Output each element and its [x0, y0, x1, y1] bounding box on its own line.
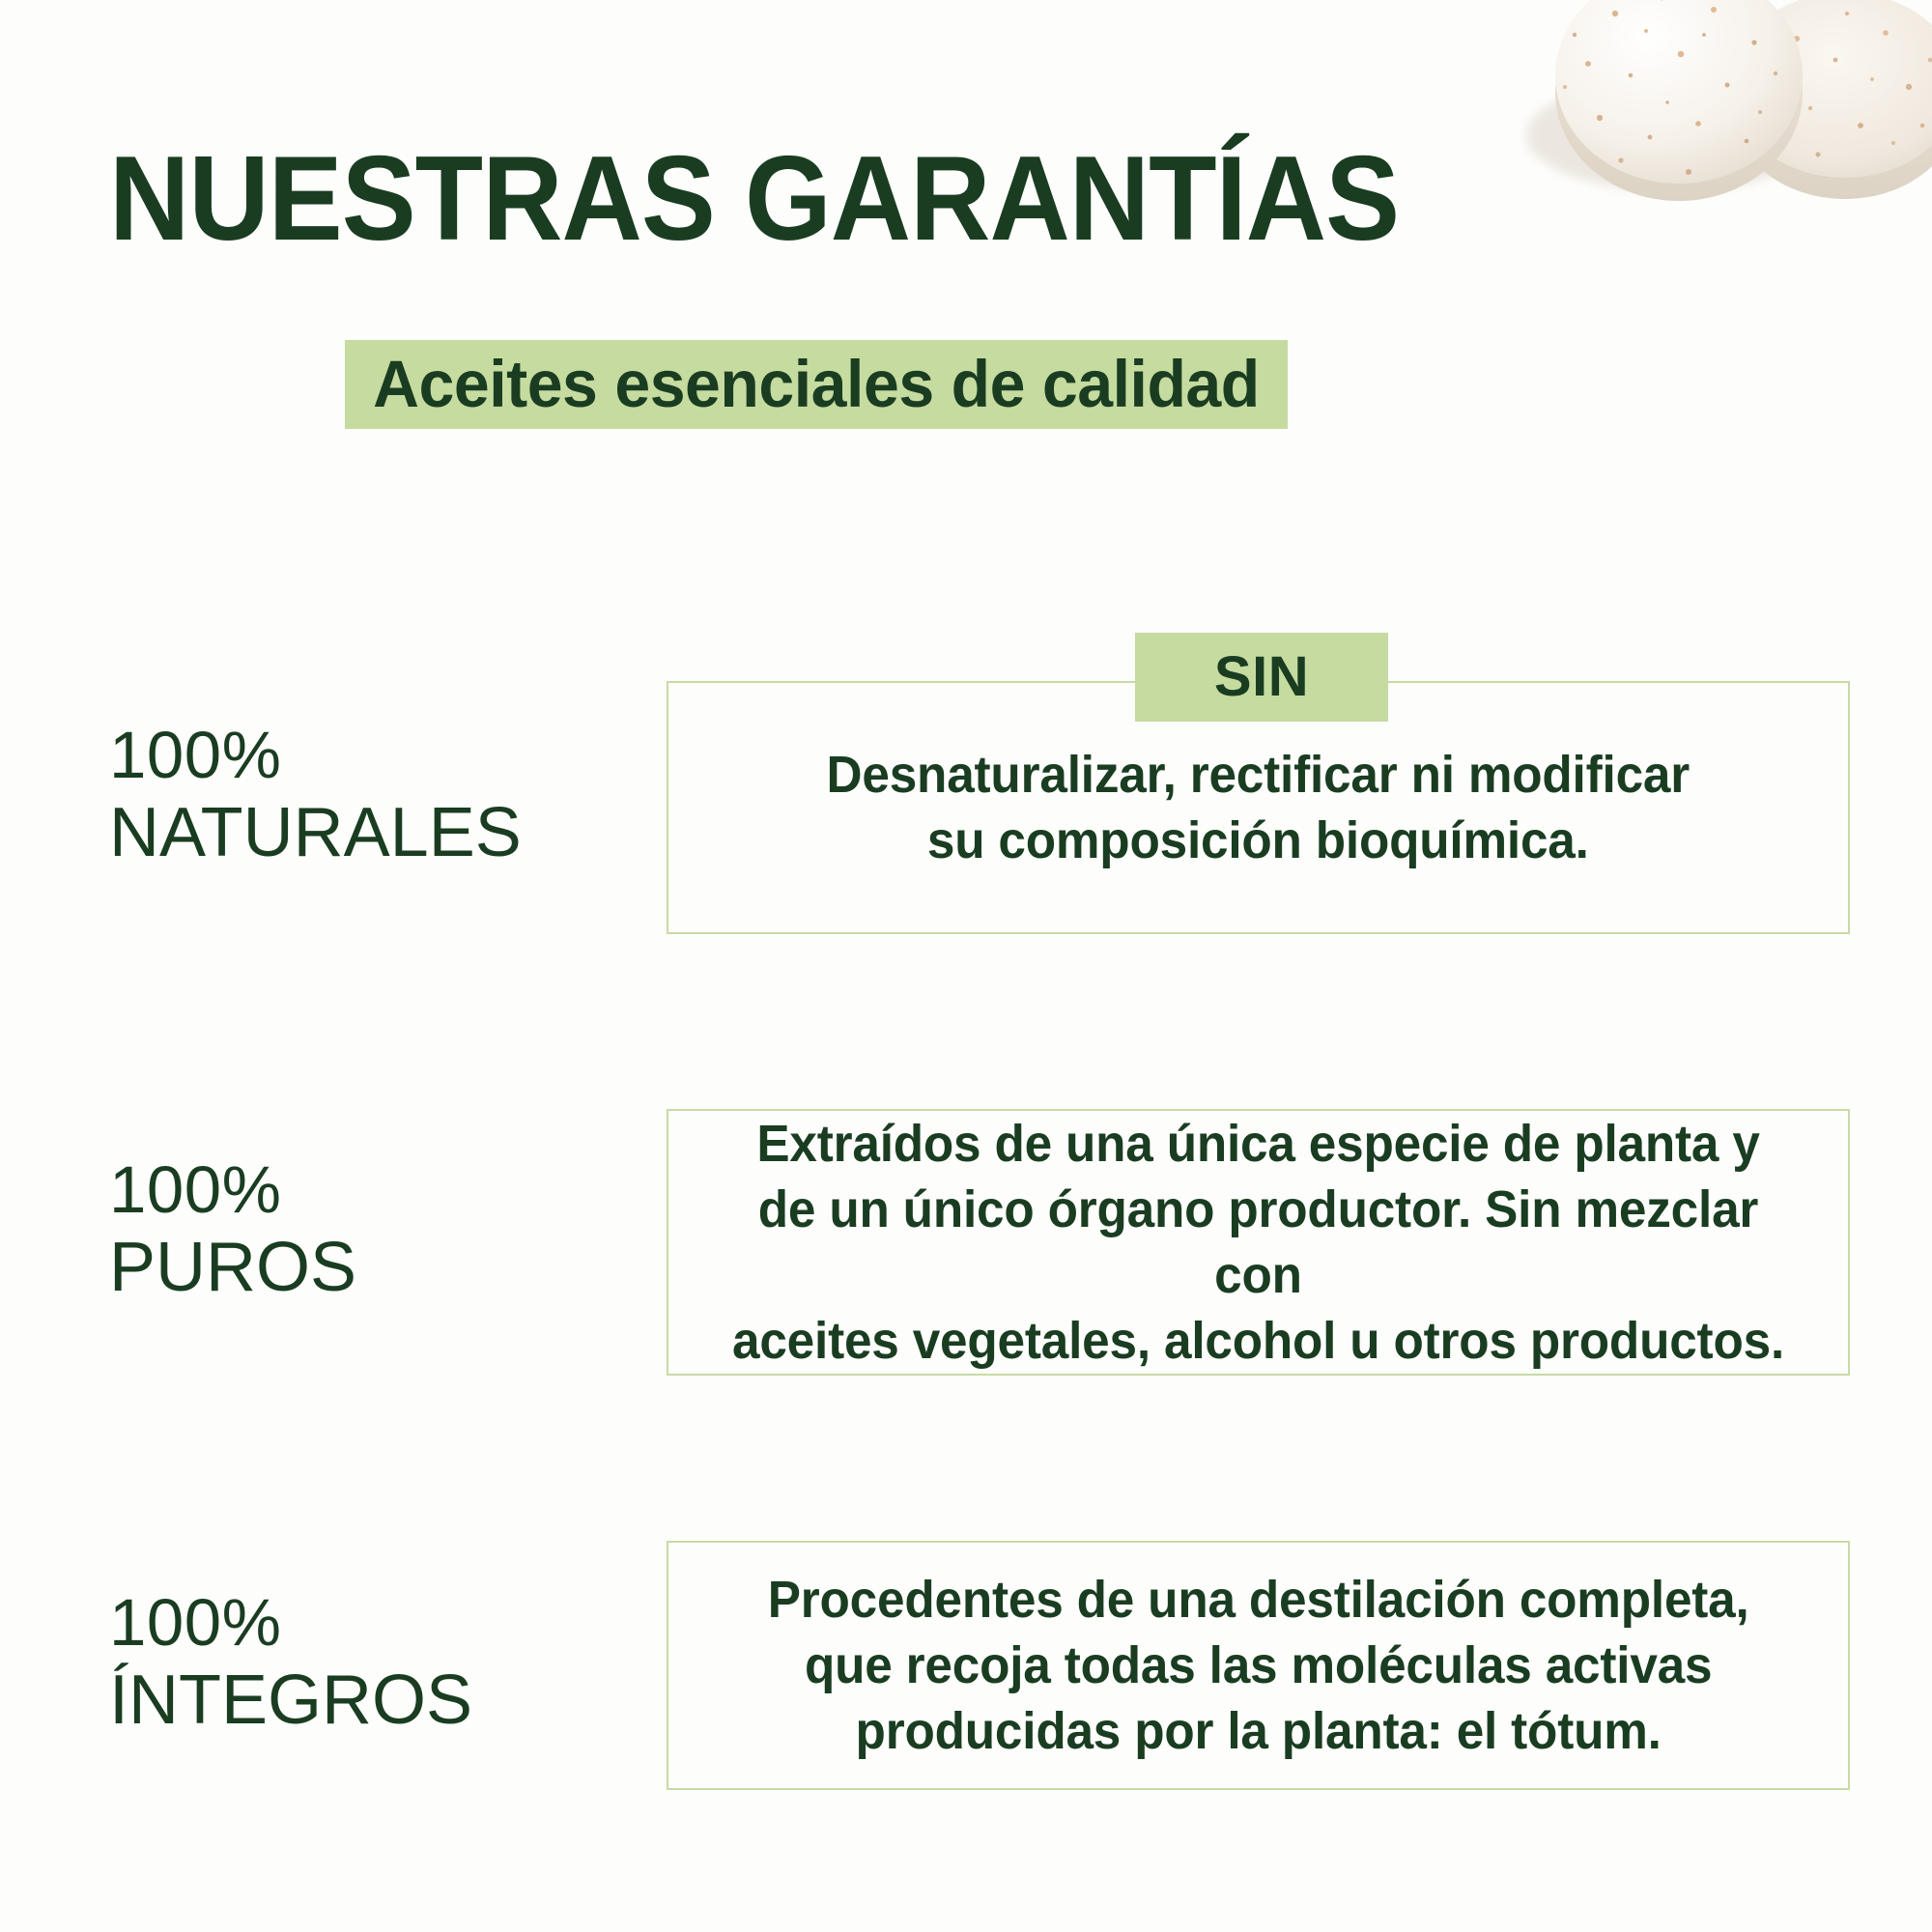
guarantee-description-1-line-2: su composición bioquímica.	[927, 811, 1589, 869]
guarantee-description-1: Desnaturalizar, rectificar ni modificar …	[801, 742, 1716, 873]
guarantee-percent-1: 100%	[109, 717, 522, 794]
guarantee-box-3: Procedentes de una destilación completa,…	[667, 1541, 1850, 1790]
guarantee-name-2: PUROS	[109, 1229, 356, 1306]
guarantee-percent-3: 100%	[109, 1584, 472, 1662]
guarantee-percent-2: 100%	[109, 1151, 356, 1229]
guarantee-name-3: ÍNTEGROS	[109, 1662, 472, 1739]
guarantee-description-2: Extraídos de una única especie de planta…	[698, 1111, 1819, 1374]
page-subtitle: Aceites esenciales de calidad	[373, 350, 1260, 419]
guarantee-description-2-line-3: aceites vegetales, alcohol u otros produ…	[732, 1312, 1784, 1370]
guarantee-description-2-line-1: Extraídos de una única especie de planta…	[756, 1115, 1759, 1173]
guarantee-description-3-line-3: producidas por la planta: el tótum.	[855, 1702, 1661, 1760]
tablets-icon	[1507, 0, 1932, 241]
guarantee-description-3-line-2: que recoja todas las moléculas activas	[805, 1636, 1712, 1694]
sin-badge: SIN	[1135, 633, 1388, 722]
guarantee-box-2: Extraídos de una única especie de planta…	[667, 1109, 1850, 1376]
infographic-page: NUESTRAS GARANTÍAS Aceites esenciales de…	[0, 0, 1932, 1932]
guarantee-label-3: 100% ÍNTEGROS	[109, 1584, 472, 1739]
guarantee-description-2-line-2: de un único órgano productor. Sin mezcla…	[758, 1180, 1758, 1304]
guarantee-label-2: 100% PUROS	[109, 1151, 356, 1306]
tablets-decoration-image	[1507, 0, 1932, 241]
guarantee-label-1: 100% NATURALES	[109, 717, 522, 871]
guarantee-name-1: NATURALES	[109, 794, 522, 871]
page-title: NUESTRAS GARANTÍAS	[109, 139, 1399, 259]
guarantee-description-1-line-1: Desnaturalizar, rectificar ni modificar	[827, 746, 1690, 804]
subtitle-highlight-band: Aceites esenciales de calidad	[345, 340, 1288, 429]
guarantee-description-3: Procedentes de una destilación completa,…	[742, 1567, 1775, 1764]
guarantee-description-3-line-1: Procedentes de una destilación completa,	[768, 1571, 1749, 1629]
